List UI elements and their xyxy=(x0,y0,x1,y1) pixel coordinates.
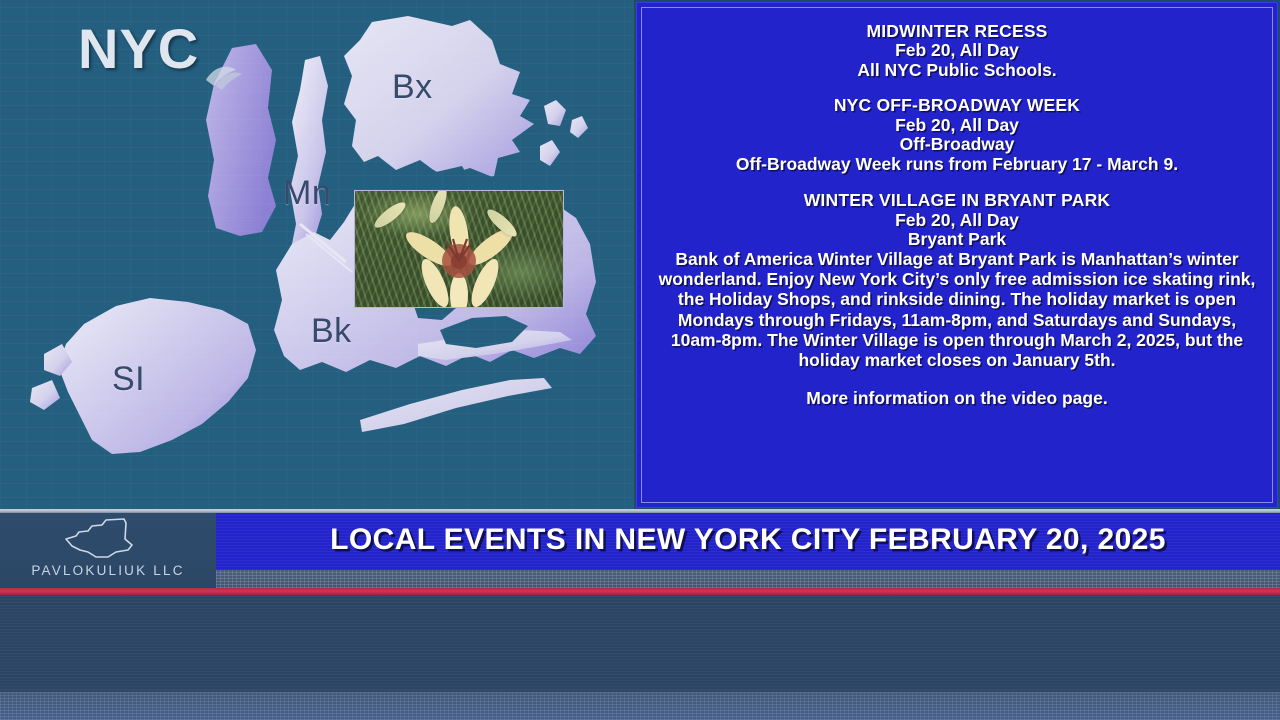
bottom-mesh-strip xyxy=(0,692,1280,720)
lower-third-title-bar: LOCAL EVENTS IN NEW YORK CITY FEBRUARY 2… xyxy=(216,513,1280,570)
map-shape-island-b xyxy=(540,140,560,166)
new-york-state-outline-icon xyxy=(62,517,160,561)
event-title: MIDWINTER RECESS xyxy=(656,22,1258,40)
event-item: WINTER VILLAGE IN BRYANT PARK Feb 20, Al… xyxy=(656,191,1258,369)
upper-content-area: NYC Bx Mn Bk SI xyxy=(0,0,1280,512)
map-shape-island-c xyxy=(570,116,588,138)
bottom-filler-area xyxy=(0,595,1280,720)
event-venue: Off-Broadway xyxy=(656,135,1258,153)
map-label-staten-island: SI xyxy=(112,360,145,399)
map-shape-rockaway-2 xyxy=(360,378,552,432)
event-description: Off-Broadway Week runs from February 17 … xyxy=(656,154,1258,174)
event-date: Feb 20, All Day xyxy=(656,116,1258,134)
event-item: NYC OFF-BROADWAY WEEK Feb 20, All Day Of… xyxy=(656,96,1258,174)
map-shape-si-tail2 xyxy=(30,380,60,410)
broadcast-screen: NYC Bx Mn Bk SI xyxy=(0,0,1280,720)
event-venue: Bryant Park xyxy=(656,230,1258,248)
map-label-brooklyn: Bk xyxy=(311,312,352,351)
inset-photo xyxy=(354,190,564,308)
map-shape-staten-island xyxy=(58,298,256,454)
event-title: NYC OFF-BROADWAY WEEK xyxy=(656,96,1258,114)
event-item: MIDWINTER RECESS Feb 20, All Day All NYC… xyxy=(656,22,1258,79)
map-label-bronx: Bx xyxy=(392,68,433,107)
map-shape-island-a xyxy=(544,100,566,126)
banner-title: LOCAL EVENTS IN NEW YORK CITY FEBRUARY 2… xyxy=(216,523,1280,557)
event-venue: All NYC Public Schools. xyxy=(656,61,1258,79)
station-logo-box: PAVLOKULIUK LLC xyxy=(0,513,216,586)
red-accent-line xyxy=(0,588,1280,595)
map-label-manhattan: Mn xyxy=(283,174,331,213)
video-page-note: More information on the video page. xyxy=(656,389,1258,407)
events-panel: MIDWINTER RECESS Feb 20, All Day All NYC… xyxy=(636,2,1278,508)
event-description: Bank of America Winter Village at Bryant… xyxy=(656,249,1258,369)
leaf-icon xyxy=(202,60,246,92)
nyc-map-panel: NYC Bx Mn Bk SI xyxy=(0,0,634,512)
station-name-label: PAVLOKULIUK LLC xyxy=(0,563,216,578)
page-title: NYC xyxy=(78,16,199,81)
event-date: Feb 20, All Day xyxy=(656,211,1258,229)
event-title: WINTER VILLAGE IN BRYANT PARK xyxy=(656,191,1258,209)
map-shape-bronx xyxy=(344,16,534,180)
event-date: Feb 20, All Day xyxy=(656,41,1258,59)
events-panel-inner: MIDWINTER RECESS Feb 20, All Day All NYC… xyxy=(641,7,1273,503)
mesh-texture-strip xyxy=(216,570,1280,588)
